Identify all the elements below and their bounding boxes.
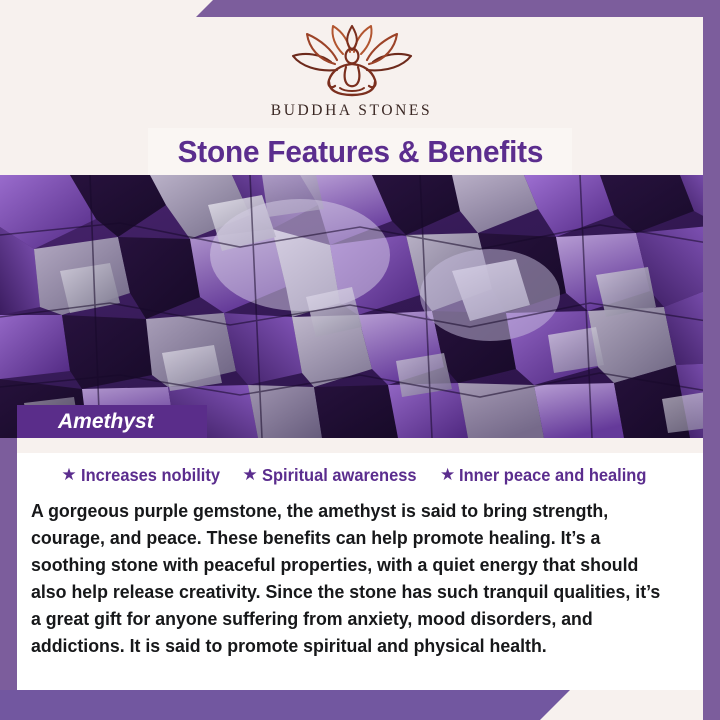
amethyst-photo-illustration (0, 175, 720, 438)
benefit-label-3: Inner peace and healing (459, 465, 646, 486)
stone-name-bar: Amethyst (17, 405, 207, 438)
bottom-decor-band (0, 690, 570, 720)
brand-logo: BUDDHA STONES (0, 22, 703, 120)
right-decor-strip (703, 0, 720, 720)
page-title-panel: Stone Features & Benefits (148, 128, 572, 175)
benefits-list: ★ Increases nobility ★ Spiritual awarene… (17, 453, 703, 486)
stone-features-poster: BUDDHA STONES Stone Features & Benefits (0, 0, 720, 720)
left-decor-strip (0, 438, 17, 702)
stone-details-card: ★ Increases nobility ★ Spiritual awarene… (17, 453, 703, 690)
benefit-label-2: Spiritual awareness (262, 465, 417, 486)
benefit-label-1: Increases nobility (81, 465, 220, 486)
top-decor-banner (196, 0, 720, 17)
star-icon: ★ (242, 466, 257, 483)
lotus-meditation-figure-icon (277, 22, 427, 98)
benefit-item-3: ★ Inner peace and healing (440, 465, 659, 486)
benefit-item-1: ★ Increases nobility (61, 465, 228, 486)
brand-name: BUDDHA STONES (271, 102, 432, 120)
star-icon: ★ (61, 466, 76, 483)
stone-name-label: Amethyst (17, 410, 154, 434)
star-icon: ★ (440, 466, 455, 483)
page-title: Stone Features & Benefits (177, 134, 543, 170)
stone-description: A gorgeous purple gemstone, the amethyst… (31, 497, 668, 659)
header-section: BUDDHA STONES Stone Features & Benefits (0, 0, 703, 175)
amethyst-crystal-photo (0, 175, 720, 438)
benefit-item-2: ★ Spiritual awareness (242, 465, 426, 486)
cream-gap-divider (17, 438, 703, 453)
